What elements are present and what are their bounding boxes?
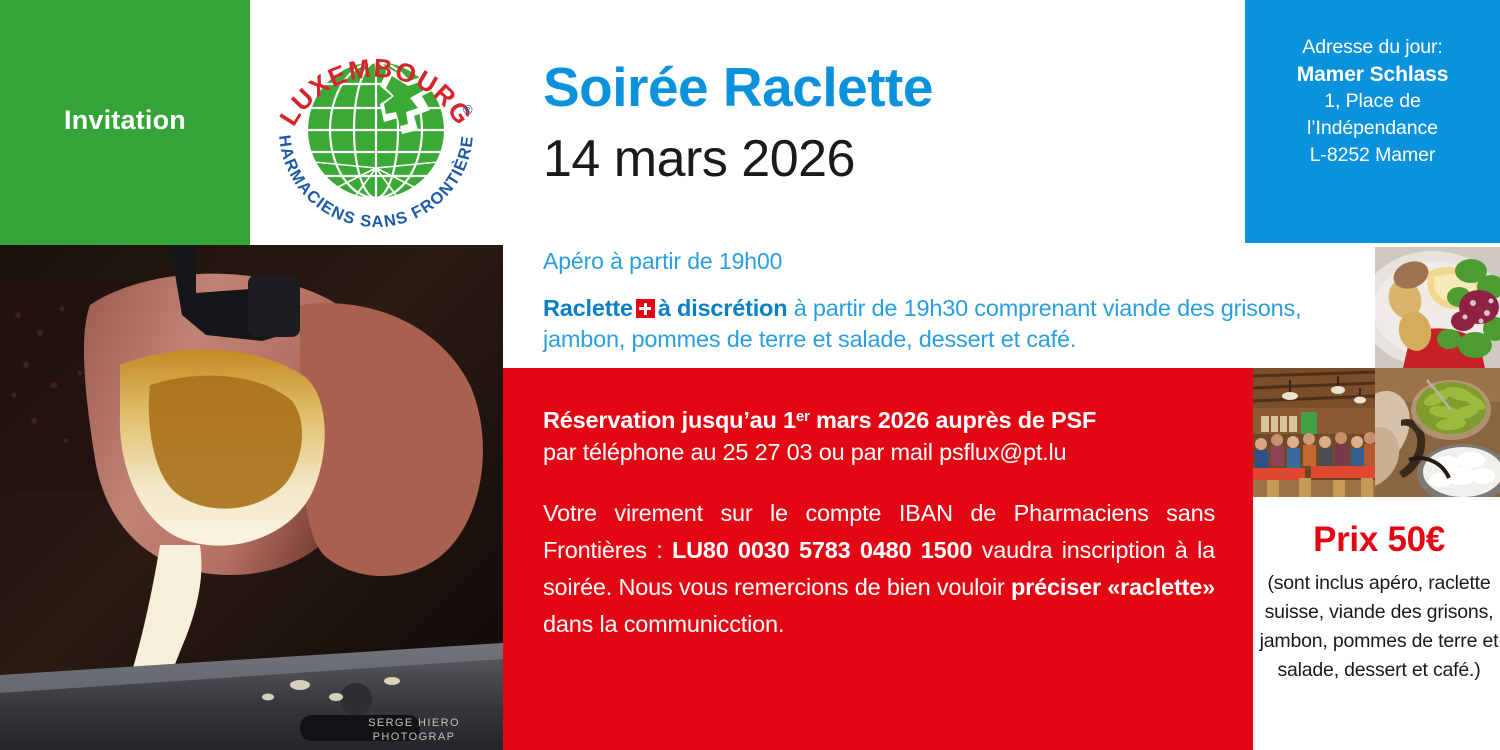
iban-emphasis: préciser «raclette» [1011, 574, 1215, 600]
invitation-block: Invitation [0, 0, 250, 245]
raclette-bold-1: Raclette [543, 295, 633, 321]
reservation-title: Réservation jusqu’au 1er mars 2026 auprè… [543, 401, 1223, 436]
iban-number: LU80 0030 5783 0480 1500 [672, 537, 972, 563]
iban-paragraph: Votre virement sur le compte IBAN de Pha… [543, 495, 1215, 643]
plate-photo [1375, 247, 1500, 368]
red-accent-bar [1240, 368, 1253, 750]
food-bowls-photo [1375, 368, 1500, 497]
photo-credit-line-1: Serge Hiero [325, 716, 503, 730]
dining-hall-photo [1253, 368, 1375, 497]
raclette-rest: à partir de 19h30 comprenant viande des … [543, 295, 1301, 352]
iban-text-post: dans la communicction. [543, 611, 784, 637]
address-box: Adresse du jour: Mamer Schlass 1, Place … [1245, 0, 1500, 243]
swiss-flag-icon [636, 299, 655, 318]
food-bowls-illustration [1375, 368, 1500, 497]
reservation-red-block: Réservation jusqu’au 1er mars 2026 auprè… [503, 368, 1240, 750]
title-block: Soirée Raclette 14 mars 2026 [543, 60, 1233, 185]
event-date: 14 mars 2026 [543, 133, 1233, 185]
globe-logo-icon: LUXEMBOURG PHARMACIENS SANS FRONTIÈRES ® [262, 18, 490, 240]
invitation-flyer: Invitation [0, 0, 1500, 750]
address-street: 1, Place de [1245, 88, 1500, 115]
address-street-2: l’Indépendance [1245, 115, 1500, 142]
description-block: Apéro à partir de 19h00 Racletteà discré… [543, 246, 1343, 355]
dining-hall-illustration [1253, 368, 1375, 497]
raclette-line: Racletteà discrétion à partir de 19h30 c… [543, 293, 1343, 355]
address-city: L-8252 Mamer [1245, 142, 1500, 169]
photo-credit-line-2: photograp [325, 730, 503, 744]
address-label: Adresse du jour: [1245, 34, 1500, 61]
price-title: Prix 50€ [1258, 520, 1500, 560]
plate-photo-illustration [1375, 247, 1500, 368]
hero-photo: Serge Hiero photograp [0, 245, 503, 750]
reservation-contact: par téléphone au 25 27 03 ou par mail ps… [543, 436, 1223, 468]
raclette-photo-illustration [0, 245, 503, 750]
reservation-section: Réservation jusqu’au 1er mars 2026 auprè… [543, 401, 1223, 468]
price-block: Prix 50€ (sont inclus apéro, raclette su… [1258, 520, 1500, 685]
photo-credit: Serge Hiero photograp [325, 716, 503, 744]
apero-line: Apéro à partir de 19h00 [543, 246, 1343, 276]
raclette-bold-2: à discrétion [658, 295, 788, 321]
event-title: Soirée Raclette [543, 60, 1233, 115]
reservation-title-post: mars 2026 auprès de PSF [810, 407, 1097, 433]
reservation-title-sup: er [796, 408, 810, 425]
invitation-label: Invitation [0, 105, 250, 136]
reservation-title-pre: Réservation jusqu’au 1 [543, 407, 796, 433]
address-venue: Mamer Schlass [1245, 61, 1500, 88]
logo-registered-mark: ® [463, 102, 473, 117]
price-note: (sont inclus apéro, raclette suisse, via… [1258, 569, 1500, 685]
psf-logo: LUXEMBOURG PHARMACIENS SANS FRONTIÈRES ® [262, 18, 490, 240]
